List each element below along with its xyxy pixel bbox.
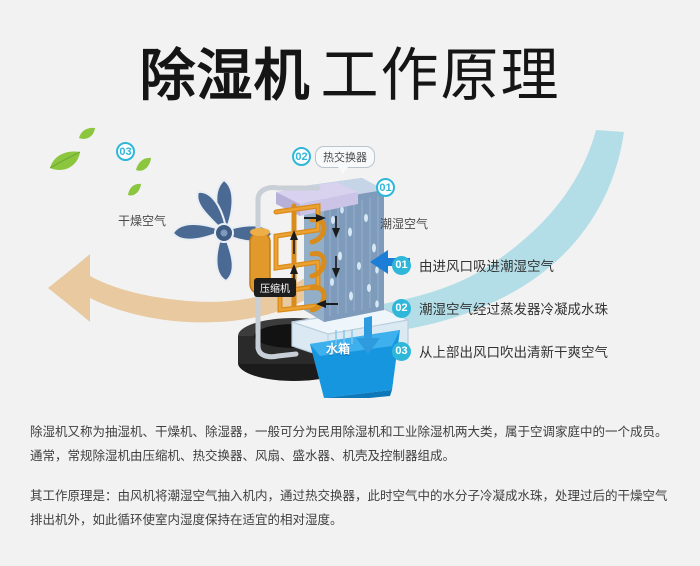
dry-air-badge: 03 — [116, 142, 135, 161]
body-copy: 除湿机又称为抽湿机、干燥机、除湿器，一般可分为民用除湿机和工业除湿机两大类，属于… — [30, 420, 675, 532]
legend-text-03: 从上部出风口吹出清新干爽空气 — [419, 341, 608, 361]
page-title-bold: 除湿机 — [139, 44, 310, 109]
legend-text-02: 潮湿空气经过蒸发器冷凝成水珠 — [419, 298, 608, 318]
list-item: 02 潮湿空气经过蒸发器冷凝成水珠 — [392, 298, 692, 318]
paragraph-principle: 其工作原理是：由风机将潮湿空气抽入机内，通过热交换器，此时空气中的水分子冷凝成水… — [30, 484, 675, 532]
compressor-label: 压缩机 — [254, 278, 296, 297]
paragraph-definition: 除湿机又称为抽湿机、干燥机、除湿器，一般可分为民用除湿机和工业除湿机两大类，属于… — [30, 420, 675, 468]
legend-badge-03: 03 — [392, 342, 411, 361]
leaf-icon — [126, 182, 142, 198]
legend-list: 01 由进风口吸进潮湿空气 02 潮湿空气经过蒸发器冷凝成水珠 03 从上部出风… — [392, 255, 692, 384]
legend-badge-02: 02 — [392, 299, 411, 318]
dry-air-label: 干燥空气 — [118, 212, 166, 229]
humid-air-label: 潮湿空气 — [380, 215, 428, 232]
legend-badge-01: 01 — [392, 256, 411, 275]
legend-text-01: 由进风口吸进潮湿空气 — [419, 255, 554, 275]
page-title: 除湿机工作原理 — [0, 28, 700, 112]
list-item: 03 从上部出风口吹出清新干爽空气 — [392, 341, 692, 361]
page-title-light: 工作原理 — [320, 41, 560, 109]
heat-exchanger-callout: 热交换器 — [315, 146, 375, 168]
heat-exchanger-badge: 02 — [292, 147, 311, 166]
humid-air-badge: 01 — [376, 178, 395, 197]
list-item: 01 由进风口吸进潮湿空气 — [392, 255, 692, 275]
leaf-icon — [134, 156, 152, 174]
leaf-icon — [78, 126, 96, 142]
water-tank-label: 水箱 — [326, 340, 350, 357]
page-root: 除湿机工作原理 — [0, 0, 700, 566]
leaf-icon — [48, 148, 82, 176]
